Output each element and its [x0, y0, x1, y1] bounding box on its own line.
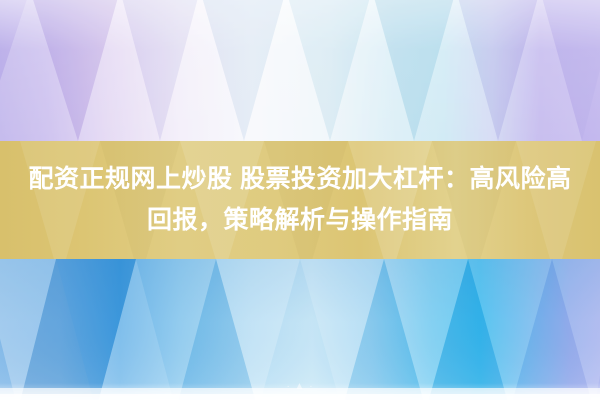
banner-headline: 配资正规网上炒股 股票投资加大杠杆：高风险高 回报，策略解析与操作指南	[0, 141, 600, 259]
watermark-text: · ▲ ·	[262, 379, 338, 395]
headline-line-2: 回报，策略解析与操作指南	[147, 200, 453, 241]
headline-line-1: 配资正规网上炒股 股票投资加大杠杆：高风险高	[29, 159, 572, 200]
promo-banner: 配资正规网上炒股 股票投资加大杠杆：高风险高 回报，策略解析与操作指南 · ▲ …	[0, 0, 600, 400]
